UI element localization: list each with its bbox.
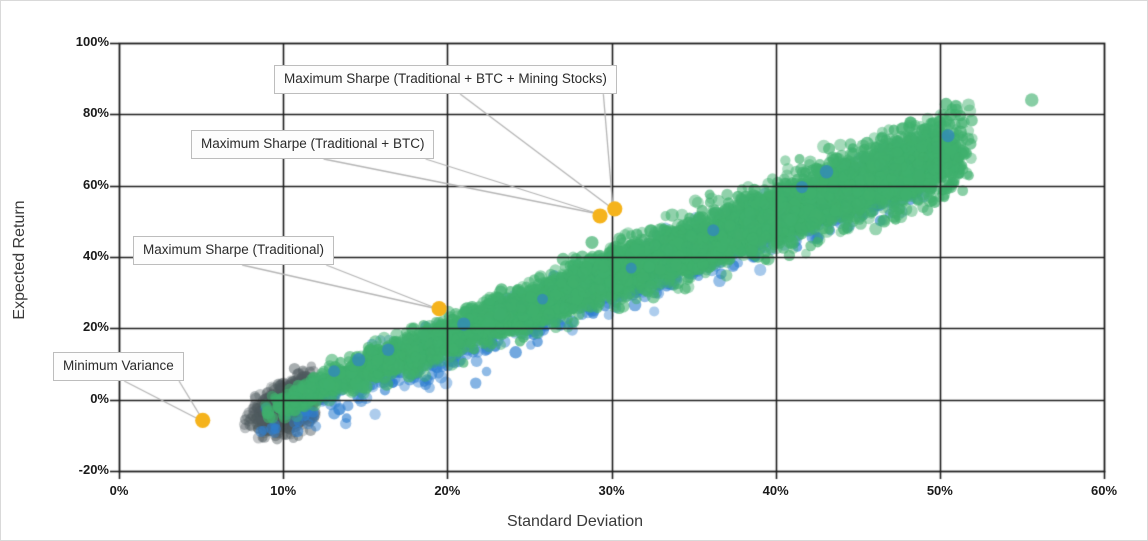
y-tick-label: 40% <box>39 248 109 263</box>
x-tick-label: 40% <box>741 483 811 498</box>
x-tick-label: 60% <box>1069 483 1139 498</box>
y-tick-label: -20% <box>39 462 109 477</box>
callout-max-sharpe-btc: Maximum Sharpe (Traditional + BTC) <box>191 130 434 159</box>
x-tick-label: 50% <box>905 483 975 498</box>
y-tick-label: 100% <box>39 34 109 49</box>
y-tick-label: 0% <box>39 391 109 406</box>
y-tick-label: 60% <box>39 177 109 192</box>
callout-max-sharpe-all: Maximum Sharpe (Traditional + BTC + Mini… <box>274 65 617 94</box>
x-tick-label: 10% <box>248 483 318 498</box>
callout-minimum-variance: Minimum Variance <box>53 352 184 381</box>
x-tick-label: 30% <box>577 483 647 498</box>
x-tick-label: 20% <box>412 483 482 498</box>
y-tick-label: 20% <box>39 319 109 334</box>
y-axis-title: Expected Return <box>11 200 29 320</box>
x-axis-title: Standard Deviation <box>1 513 1148 531</box>
callout-max-sharpe-traditional: Maximum Sharpe (Traditional) <box>133 236 334 265</box>
y-tick-label: 80% <box>39 105 109 120</box>
efficient-frontier-chart: Standard Deviation Expected Return -20%0… <box>0 0 1148 541</box>
x-tick-label: 0% <box>84 483 154 498</box>
